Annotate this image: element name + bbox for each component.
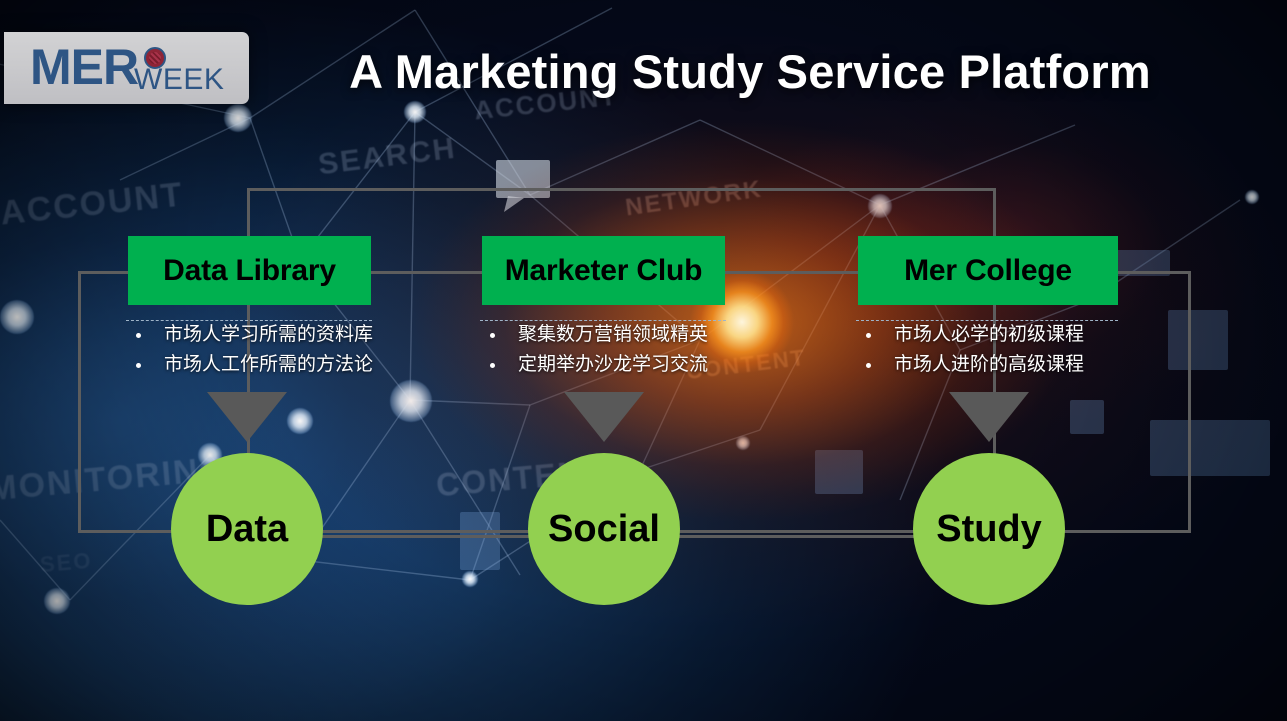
column-header-data-library[interactable]: Data Library bbox=[128, 236, 371, 305]
node-dot bbox=[462, 571, 478, 587]
bullet-list-data-library: 市场人学习所需的资料库 市场人工作所需的方法论 bbox=[128, 320, 371, 380]
node-dot bbox=[404, 101, 426, 123]
column-marketer-club: Marketer Club 聚集数万营销领域精英 定期举办沙龙学习交流 bbox=[482, 236, 725, 396]
slide-canvas: ACCOUNT SEARCH NETWORK ACCOUNT CONTENT C… bbox=[0, 0, 1287, 721]
logo-week-text: WEEK bbox=[134, 63, 224, 97]
circle-node-social[interactable]: Social bbox=[528, 453, 680, 605]
bullet-list-mer-college: 市场人必学的初级课程 市场人进阶的高级课程 bbox=[858, 320, 1118, 380]
circle-node-study[interactable]: Study bbox=[913, 453, 1065, 605]
brand-logo[interactable]: MER WEEK bbox=[4, 32, 249, 104]
circle-label-social: Social bbox=[548, 508, 660, 551]
node-dot bbox=[224, 104, 252, 132]
node-dot bbox=[0, 300, 34, 334]
column-header-mer-college[interactable]: Mer College bbox=[858, 236, 1118, 305]
column-data-library: Data Library 市场人学习所需的资料库 市场人工作所需的方法论 bbox=[128, 236, 371, 396]
column-header-marketer-club[interactable]: Marketer Club bbox=[482, 236, 725, 305]
list-item: 市场人学习所需的资料库 bbox=[128, 320, 371, 350]
background-word: SEARCH bbox=[316, 132, 458, 183]
list-item: 定期举办沙龙学习交流 bbox=[482, 350, 725, 380]
background-word: ACCOUNT bbox=[0, 175, 186, 233]
list-item: 市场人工作所需的方法论 bbox=[128, 350, 371, 380]
list-item: 市场人进阶的高级课程 bbox=[858, 350, 1118, 380]
node-dot bbox=[44, 588, 70, 614]
triangle-down-icon-data bbox=[207, 392, 287, 442]
bullet-list-marketer-club: 聚集数万营销领域精英 定期举办沙龙学习交流 bbox=[482, 320, 725, 380]
triangle-down-icon-social bbox=[564, 392, 644, 442]
circle-node-data[interactable]: Data bbox=[171, 453, 323, 605]
column-mer-college: Mer College 市场人必学的初级课程 市场人进阶的高级课程 bbox=[858, 236, 1118, 396]
circle-label-study: Study bbox=[936, 508, 1042, 551]
list-item: 市场人必学的初级课程 bbox=[858, 320, 1118, 350]
triangle-down-icon-study bbox=[949, 392, 1029, 442]
circle-label-data: Data bbox=[206, 508, 288, 551]
node-dot bbox=[1245, 190, 1259, 204]
page-title: A Marketing Study Service Platform bbox=[290, 44, 1210, 99]
logo-mer-text: MER bbox=[30, 38, 138, 96]
list-item: 聚集数万营销领域精英 bbox=[482, 320, 725, 350]
background-word: SEO bbox=[39, 548, 94, 578]
